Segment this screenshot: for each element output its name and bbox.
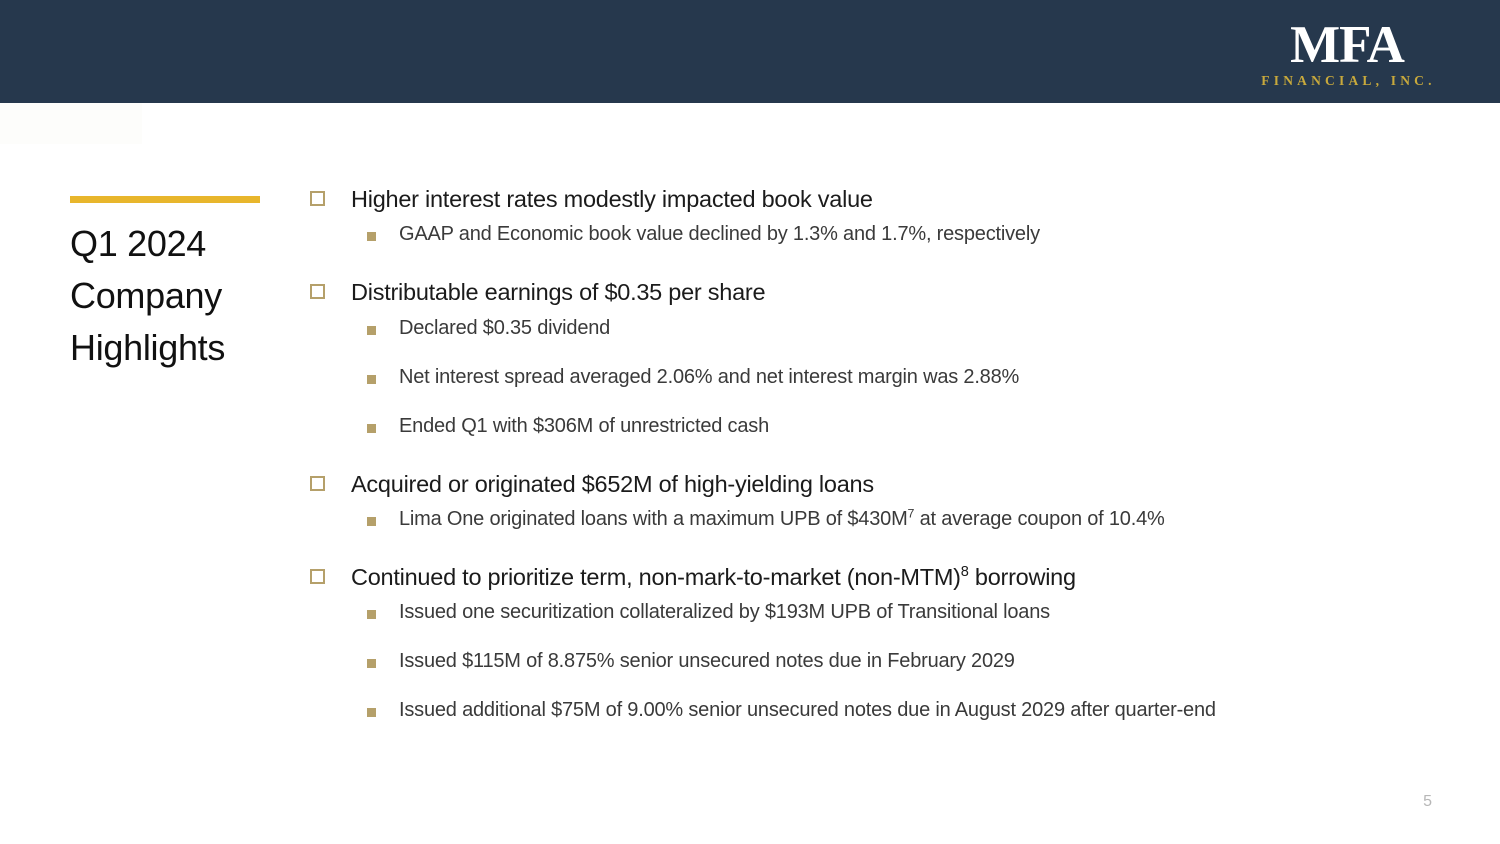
item-spacer — [310, 345, 1450, 363]
sub-bullet-text: Net interest spread averaged 2.06% and n… — [399, 363, 1019, 392]
bullet-text: Distributable earnings of $0.35 per shar… — [351, 276, 765, 309]
list-item: Acquired or originated $652M of high-yie… — [310, 468, 1450, 501]
page-title: Q1 2024 Company Highlights — [70, 218, 320, 373]
logo-wordmark: MFA — [1252, 18, 1442, 72]
square-filled-bullet-icon — [367, 375, 376, 384]
square-outline-bullet-icon — [310, 284, 325, 299]
list-item: Declared $0.35 dividend — [367, 314, 1450, 343]
square-filled-bullet-icon — [367, 659, 376, 668]
list-item: Net interest spread averaged 2.06% and n… — [367, 363, 1450, 392]
square-outline-bullet-icon — [310, 191, 325, 206]
list-item: Issued additional $75M of 9.00% senior u… — [367, 696, 1450, 725]
list-item: Issued $115M of 8.875% senior unsecured … — [367, 647, 1450, 676]
mfa-logo: MFA FINANCIAL, INC. — [1252, 18, 1442, 89]
square-filled-bullet-icon — [367, 517, 376, 526]
sub-bullet-text: Issued one securitization collateralized… — [399, 598, 1050, 627]
bullet-text-before: Continued to prioritize term, non-mark-t… — [351, 564, 961, 590]
list-item: Lima One originated loans with a maximum… — [367, 505, 1450, 534]
list-item: Higher interest rates modestly impacted … — [310, 183, 1450, 216]
page-title-line-3: Highlights — [70, 322, 320, 374]
bullet-text-after: borrowing — [969, 564, 1076, 590]
list-item: Continued to prioritize term, non-mark-t… — [310, 561, 1450, 594]
page-number: 5 — [1423, 793, 1432, 811]
list-item: GAAP and Economic book value declined by… — [367, 220, 1450, 249]
sub-bullet-text: GAAP and Economic book value declined by… — [399, 220, 1040, 249]
sub-bullet-text: Issued $115M of 8.875% senior unsecured … — [399, 647, 1015, 676]
bullet-text: Acquired or originated $652M of high-yie… — [351, 468, 874, 501]
logo-subtitle: FINANCIAL, INC. — [1252, 73, 1442, 89]
page-title-line-2: Company — [70, 270, 320, 322]
sub-bullet-text: Issued additional $75M of 9.00% senior u… — [399, 696, 1216, 725]
bullet-text: Continued to prioritize term, non-mark-t… — [351, 561, 1076, 594]
highlights-list: Higher interest rates modestly impacted … — [310, 183, 1450, 727]
sub-bullet-text-after: at average coupon of 10.4% — [914, 508, 1164, 530]
square-filled-bullet-icon — [367, 610, 376, 619]
sub-bullet-text-before: Lima One originated loans with a maximum… — [399, 508, 908, 530]
square-filled-bullet-icon — [367, 708, 376, 717]
sub-bullet-text: Ended Q1 with $306M of unrestricted cash — [399, 412, 769, 441]
section-spacer — [310, 443, 1450, 468]
item-spacer — [310, 394, 1450, 412]
item-spacer — [310, 629, 1450, 647]
watermark-block — [0, 103, 142, 144]
footnote-superscript: 8 — [961, 564, 969, 580]
list-item: Ended Q1 with $306M of unrestricted cash — [367, 412, 1450, 441]
sub-bullet-text: Declared $0.35 dividend — [399, 314, 610, 343]
sub-bullet-text: Lima One originated loans with a maximum… — [399, 505, 1165, 534]
square-filled-bullet-icon — [367, 232, 376, 241]
square-filled-bullet-icon — [367, 326, 376, 335]
list-item: Issued one securitization collateralized… — [367, 598, 1450, 627]
square-outline-bullet-icon — [310, 476, 325, 491]
page-title-line-1: Q1 2024 — [70, 218, 320, 270]
bullet-text: Higher interest rates modestly impacted … — [351, 183, 873, 216]
square-outline-bullet-icon — [310, 569, 325, 584]
list-item: Distributable earnings of $0.35 per shar… — [310, 276, 1450, 309]
section-spacer — [310, 536, 1450, 561]
section-spacer — [310, 251, 1450, 276]
title-accent-rule — [70, 196, 260, 203]
item-spacer — [310, 678, 1450, 696]
square-filled-bullet-icon — [367, 424, 376, 433]
slide-root: MFA FINANCIAL, INC. Q1 2024 Company High… — [0, 0, 1500, 844]
